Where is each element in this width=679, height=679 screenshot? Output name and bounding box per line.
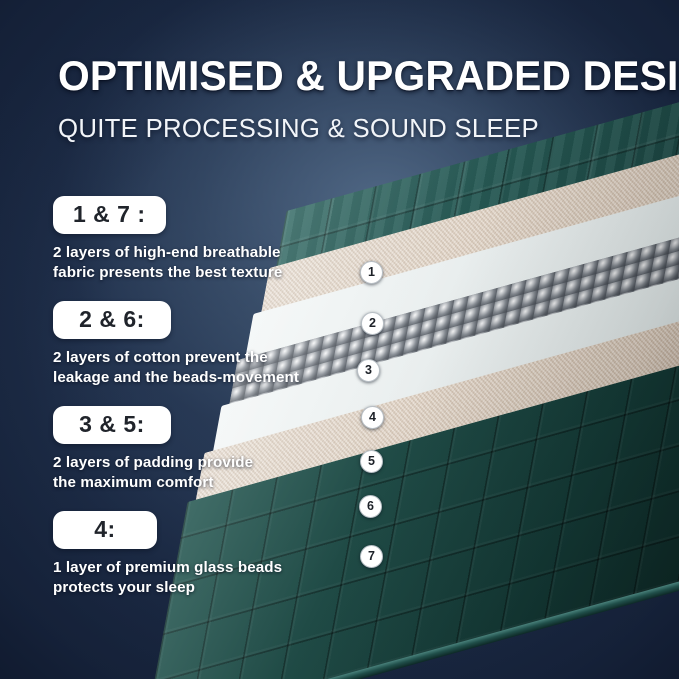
callout-description-1-and-7: 2 layers of high-end breathable fabric p…	[53, 243, 353, 283]
layer-badge-2: 2	[361, 312, 384, 335]
callout-1-and-7: 1 & 7 : 2 layers of high-end breathable …	[53, 196, 353, 283]
heading-group: OPTIMISED & UPGRADED DESIGN QUITE PROCES…	[58, 54, 658, 144]
layer-badge-1: 1	[360, 261, 383, 284]
layer-badge-6: 6	[359, 495, 382, 518]
layer-badge-4: 4	[361, 406, 384, 429]
callout-description-2-and-6: 2 layers of cotton prevent the leakage a…	[53, 348, 353, 388]
page-title: OPTIMISED & UPGRADED DESIGN	[58, 54, 640, 98]
callout-label-1-and-7: 1 & 7 :	[53, 196, 166, 234]
layer-badge-3: 3	[357, 359, 380, 382]
product-infographic-poster: 1 2 3 4 5 6 7 OPTIMISED & UPGRADED DESIG…	[0, 0, 679, 679]
callout-label-4: 4:	[53, 511, 157, 549]
callout-4: 4: 1 layer of premium glass beads protec…	[53, 511, 353, 598]
callout-3-and-5: 3 & 5: 2 layers of padding provide the m…	[53, 406, 353, 493]
layer-badge-5: 5	[360, 450, 383, 473]
callout-description-4: 1 layer of premium glass beads protects …	[53, 558, 353, 598]
page-subtitle: QUITE PROCESSING & SOUND SLEEP	[58, 113, 652, 144]
callout-description-3-and-5: 2 layers of padding provide the maximum …	[53, 453, 353, 493]
layer-badge-7: 7	[360, 545, 383, 568]
callout-label-3-and-5: 3 & 5:	[53, 406, 171, 444]
callout-2-and-6: 2 & 6: 2 layers of cotton prevent the le…	[53, 301, 353, 388]
callout-label-2-and-6: 2 & 6:	[53, 301, 171, 339]
